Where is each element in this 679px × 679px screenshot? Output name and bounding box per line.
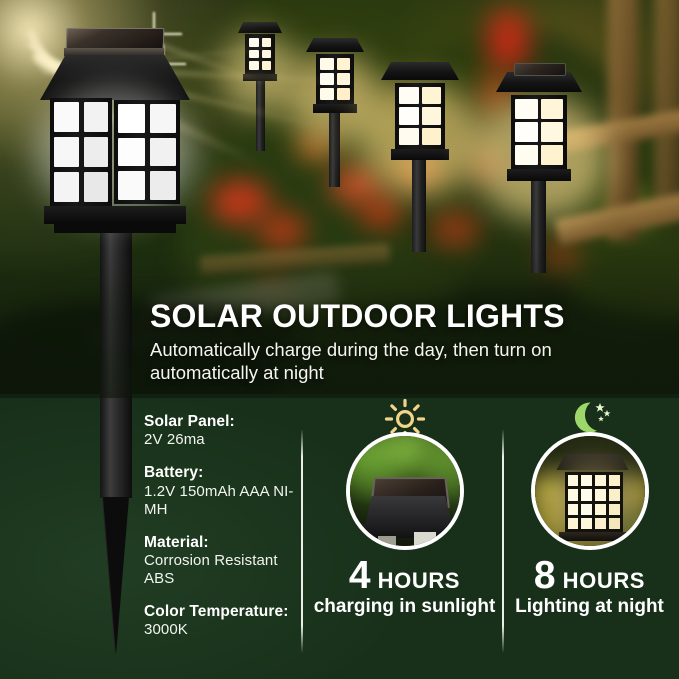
lantern-window [320,58,334,70]
lantern-pole [256,81,265,151]
star [595,403,604,412]
feature-lighting: 8 HOURS Lighting at night [497,400,679,617]
lantern-base [391,149,449,160]
star [598,416,604,421]
lantern-body-left-face [50,98,112,206]
star [603,410,610,417]
spec-item: Color Temperature: 3000K [144,603,304,639]
lantern-window [568,504,579,515]
lantern-window [609,518,620,529]
background-lantern [380,62,462,252]
lantern-window [595,475,606,486]
lantern-window [249,38,259,47]
lantern-roof [381,62,459,80]
lantern-window [150,104,177,133]
background-lantern [236,22,284,152]
stake-pole-lower [100,394,132,498]
lantern-pole [412,160,426,252]
lantern-window [320,88,334,100]
lantern-window [581,518,592,529]
lantern-window [84,102,109,132]
lantern-window [262,61,272,70]
lantern-base [559,532,629,541]
lantern-window [249,61,259,70]
lantern-window [378,536,396,546]
lighting-hours: 8 HOURS [497,556,679,595]
lantern-window [84,137,109,167]
lantern-window [581,489,592,500]
background-lantern [495,72,585,272]
lantern-base [243,74,277,81]
solar-panel-closeup-photo [350,436,460,546]
spec-item: Material: Corrosion Resistant ABS [144,534,304,588]
lantern-window [515,122,538,142]
spec-item: Battery: 1.2V 150mAh AAA NI-MH [144,464,304,518]
lantern-base [313,104,357,113]
charging-description: charging in sunlight [312,596,497,617]
lantern-window [399,87,419,104]
lantern-window [118,171,145,200]
flower-blob [486,10,530,70]
lantern-body-right-face [114,100,180,204]
page-subtitle: Automatically charge during the day, the… [150,339,570,384]
lantern-window [609,504,620,515]
lantern-window [581,504,592,515]
charging-hours-number: 4 [349,556,371,595]
spec-label: Solar Panel: [144,413,304,431]
lighting-photo-circle [531,432,649,550]
lantern-roof [238,22,282,33]
lantern-roof [40,55,190,100]
lighting-description: Lighting at night [497,596,679,617]
spec-value: Corrosion Resistant ABS [144,552,304,588]
spec-label: Material: [144,534,304,552]
lighting-hours-number: 8 [534,556,556,595]
lantern-window [515,99,538,119]
lantern-window [414,532,436,546]
flower-blob [258,212,306,250]
lantern-window [595,518,606,529]
lantern-glowing-at-night-photo [535,436,645,546]
panel-housing [362,496,456,538]
spec-item: Solar Panel: 2V 26ma [144,413,304,449]
lantern-roof [306,38,364,52]
lighting-hours-unit: HOURS [563,568,645,594]
lantern-window [337,88,351,100]
lantern-window [568,489,579,500]
solar-panel-top [514,63,566,76]
lantern-window [54,102,79,132]
lantern-window [84,172,109,202]
lantern-body [511,95,567,169]
lantern-window [337,58,351,70]
headline-block: SOLAR OUTDOOR LIGHTS Automatically charg… [150,300,570,384]
lantern-window [541,122,564,142]
spec-label: Battery: [144,464,304,482]
lantern-window [249,50,259,59]
stake-spike-tip [103,497,129,655]
charging-photo-circle [346,432,464,550]
lantern-window [150,138,177,167]
specs-list: Solar Panel: 2V 26ma Battery: 1.2V 150mA… [144,413,304,639]
lantern-window [422,107,442,124]
spec-value: 3000K [144,621,304,639]
lantern-window [337,73,351,85]
lantern-window [118,104,145,133]
lantern-base [507,169,571,181]
spec-value: 1.2V 150mAh AAA NI-MH [144,483,304,519]
lantern-window [609,489,620,500]
lantern-window [568,518,579,529]
flower-blob [623,514,645,546]
lantern-roof [557,454,629,470]
lantern-window [150,171,177,200]
lantern-pole [329,113,340,187]
lantern-window [422,128,442,145]
lantern-window [54,172,79,202]
lantern-window [581,475,592,486]
lantern-body [565,472,623,532]
lantern-window [320,73,334,85]
lantern-body [316,54,354,104]
spec-value: 2V 26ma [144,431,304,449]
charging-hours: 4 HOURS [312,556,497,595]
lantern-base [44,206,186,224]
charging-hours-unit: HOURS [378,568,460,594]
flower-blob [210,180,270,224]
feature-charging: 4 HOURS charging in sunlight [312,400,497,617]
lantern-window [541,145,564,165]
lantern-window [541,99,564,119]
lantern-body [245,34,275,74]
lantern-window [568,475,579,486]
lantern-window [399,107,419,124]
lantern-pole [531,181,546,273]
page-title: SOLAR OUTDOOR LIGHTS [150,300,570,332]
lantern-base-lip [54,224,176,233]
lantern-window [609,475,620,486]
product-marketing-image: SOLAR OUTDOOR LIGHTS Automatically charg… [0,0,679,679]
spec-label: Color Temperature: [144,603,304,621]
lantern-body [395,83,445,149]
lantern-window [595,489,606,500]
lantern-window [54,137,79,167]
lantern-window [422,87,442,104]
hero-lantern [30,28,200,258]
lantern-window [118,138,145,167]
lantern-window [262,50,272,59]
lantern-window [399,128,419,145]
background-lantern [305,38,367,188]
lantern-window [262,38,272,47]
lantern-window [595,504,606,515]
lantern-window [515,145,538,165]
